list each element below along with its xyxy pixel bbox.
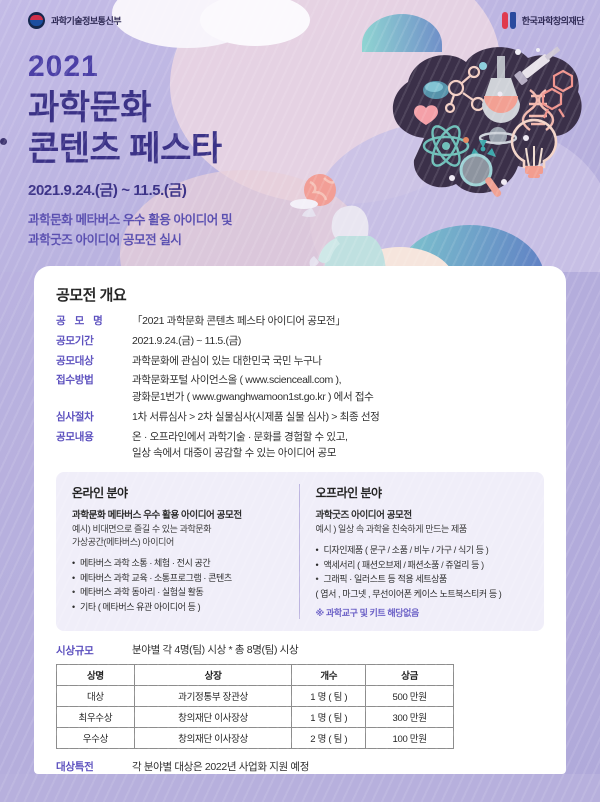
hero-subtitle-line2: 과학굿즈 아이디어 공모전 실시	[28, 230, 232, 250]
info-value: 「2021 과학문화 콘텐츠 페스타 아이디어 공모전」	[132, 314, 345, 330]
hero-subtitle-line1: 과학문화 메타버스 우수 활용 아이디어 및	[28, 210, 232, 230]
column-header-certificate: 상장	[134, 665, 292, 686]
info-value: 과학문화포털 사이언스올 ( www.scienceall.com ), 광화문…	[132, 373, 373, 406]
info-label: 공모기간	[56, 334, 132, 349]
awards-summary: 분야별 각 4명(팀) 시상 * 총 8명(팀) 시상	[132, 643, 298, 659]
table-row: 최우수상 창의재단 이사장상 1 명 ( 팀 ) 300 만원	[57, 707, 454, 728]
table-header-row: 상명 상장 개수 상금	[57, 665, 454, 686]
cell-certificate: 창의재단 이사장상	[134, 728, 292, 749]
info-value-line: 2021.9.24.(금) ~ 11.5.(금)	[132, 334, 241, 350]
awards-header-row: 시상규모 분야별 각 4명(팀) 시상 * 총 8명(팀) 시상	[56, 643, 544, 659]
taegeuk-icon	[28, 12, 45, 29]
column-header-count: 개수	[292, 665, 366, 686]
info-value-line: 「2021 과학문화 콘텐츠 페스타 아이디어 공모전」	[132, 314, 345, 330]
info-value-line: 광화문1번가 ( www.gwanghwamoon1st.go.kr ) 에서 …	[132, 390, 373, 406]
poster-year: 2021	[28, 52, 232, 82]
info-row: 공모기간 2021.9.24.(금) ~ 11.5.(금)	[56, 334, 544, 350]
foundation-label: 한국과학창의재단	[522, 14, 584, 27]
table-row: 대상 과기정통부 장관상 1 명 ( 팀 ) 500 만원	[57, 686, 454, 707]
info-value: 2021.9.24.(금) ~ 11.5.(금)	[132, 334, 241, 350]
info-row: 공모내용 온 · 오프라인에서 과학기술 · 문화를 경험할 수 있고, 일상 …	[56, 430, 544, 463]
info-row: 공모대상 과학문화에 관심이 있는 대한민국 국민 누구나	[56, 354, 544, 370]
info-label: 공 모 명	[56, 314, 132, 329]
online-item-list: 메타버스 과학 소통 · 체험 · 전시 공간 메타버스 과학 교육 · 소통프…	[72, 556, 287, 614]
kofac-bar-blue	[510, 12, 516, 29]
list-item-continuation: ( 엽서 , 마그넷 , 무선이어폰 케이스 노트북스티커 등 )	[316, 587, 531, 602]
awards-label: 시상규모	[56, 644, 132, 659]
list-item: 그래픽 · 일러스트 등 적용 세트상품	[316, 572, 531, 587]
kofac-bar-red	[502, 12, 508, 29]
info-value: 과학문화에 관심이 있는 대한민국 국민 누구나	[132, 354, 322, 370]
cell-award-name: 우수상	[57, 728, 135, 749]
details-card: 공모전 개요 공 모 명 「2021 과학문화 콘텐츠 페스타 아이디어 공모전…	[34, 266, 566, 774]
page-title-line1: 과학문화	[28, 88, 232, 129]
online-example: 예시) 비대면으로 즐길 수 있는 과학문화 가상공간(메타버스) 아이디어	[72, 523, 287, 549]
cell-prize: 100 만원	[366, 728, 454, 749]
cell-count: 1 명 ( 팀 )	[292, 707, 366, 728]
online-example-line: 가상공간(메타버스) 아이디어	[72, 536, 287, 549]
info-label: 공모대상	[56, 354, 132, 369]
info-label: 심사절차	[56, 410, 132, 425]
cell-prize: 300 만원	[366, 707, 454, 728]
online-example-line: 예시) 비대면으로 즐길 수 있는 과학문화	[72, 523, 287, 536]
info-value: 1차 서류심사 > 2차 실물심사(시제품 실물 심사) > 최종 선정	[132, 410, 379, 426]
cell-prize: 500 만원	[366, 686, 454, 707]
column-header-award-name: 상명	[57, 665, 135, 686]
info-row: 심사절차 1차 서류심사 > 2차 실물심사(시제품 실물 심사) > 최종 선…	[56, 410, 544, 426]
ministry-logo: 과학기술정보통신부	[28, 12, 121, 29]
table-row: 우수상 창의재단 이사장상 2 명 ( 팀 ) 100 만원	[57, 728, 454, 749]
cell-certificate: 창의재단 이사장상	[134, 707, 292, 728]
overview-rows: 공 모 명 「2021 과학문화 콘텐츠 페스타 아이디어 공모전」 공모기간 …	[56, 314, 544, 462]
list-item: 액세서리 ( 패션오브제 / 패션소품 / 쥬얼리 등 )	[316, 558, 531, 573]
scientist-holding-globe	[290, 168, 420, 272]
offline-item-list: 디자인제품 ( 문구 / 소품 / 비누 / 가구 / 식기 등 ) 액세서리 …	[316, 543, 531, 601]
list-item: 메타버스 과학 동아리 · 실험실 활동	[72, 585, 287, 600]
prizes-table: 상명 상장 개수 상금 대상 과기정통부 장관상 1 명 ( 팀 ) 500 만…	[56, 664, 454, 749]
cell-certificate: 과기정통부 장관상	[134, 686, 292, 707]
list-item: 기타 ( 메타버스 유관 아이디어 등 )	[72, 600, 287, 615]
cell-count: 1 명 ( 팀 )	[292, 686, 366, 707]
online-subheading: 과학문화 메타버스 우수 활용 아이디어 공모전	[72, 507, 287, 521]
event-daterange: 2021.9.24.(금) ~ 11.5.(금)	[28, 179, 232, 200]
info-value-line: 과학문화에 관심이 있는 대한민국 국민 누구나	[132, 354, 322, 370]
cell-count: 2 명 ( 팀 )	[292, 728, 366, 749]
fields-panel: 온라인 분야 과학문화 메타버스 우수 활용 아이디어 공모전 예시) 비대면으…	[56, 472, 544, 631]
info-row: 공 모 명 「2021 과학문화 콘텐츠 페스타 아이디어 공모전」	[56, 314, 544, 330]
decorative-dot	[0, 138, 7, 145]
kofac-logo: 한국과학창의재단	[502, 12, 584, 29]
field-column-offline: 오프라인 분야 과학굿즈 아이디어 공모전 예시 ) 일상 속 과학을 친숙하게…	[299, 484, 531, 619]
ministry-label: 과학기술정보통신부	[51, 14, 121, 27]
info-value-line: 일상 속에서 대중이 공감할 수 있는 아이디어 공모	[132, 446, 348, 462]
info-value: 온 · 오프라인에서 과학기술 · 문화를 경험할 수 있고, 일상 속에서 대…	[132, 430, 348, 463]
overview-heading: 공모전 개요	[56, 284, 544, 305]
offline-example: 예시 ) 일상 속 과학을 친숙하게 만드는 제품	[316, 523, 531, 536]
info-value-line: 1차 서류심사 > 2차 실물심사(시제품 실물 심사) > 최종 선정	[132, 410, 379, 426]
bottom-strip	[0, 774, 600, 802]
hero-subtitle: 과학문화 메타버스 우수 활용 아이디어 및 과학굿즈 아이디어 공모전 실시	[28, 210, 232, 251]
cell-award-name: 최우수상	[57, 707, 135, 728]
info-value-line: 과학문화포털 사이언스올 ( www.scienceall.com ),	[132, 373, 373, 389]
page-title: 과학문화 콘텐츠 페스타	[28, 88, 232, 171]
page-title-line2: 콘텐츠 페스타	[28, 129, 232, 170]
offline-example-line: 예시 ) 일상 속 과학을 친숙하게 만드는 제품	[316, 523, 531, 536]
offline-heading: 오프라인 분야	[316, 484, 531, 501]
info-row: 접수방법 과학문화포털 사이언스올 ( www.scienceall.com )…	[56, 373, 544, 406]
info-label: 접수방법	[56, 373, 132, 388]
info-label: 공모내용	[56, 430, 132, 445]
poster: 2021 과학문화 콘텐츠 페스타 2021.9.24.(금) ~ 11.5.(…	[0, 0, 600, 802]
hero-text-block: 2021 과학문화 콘텐츠 페스타 2021.9.24.(금) ~ 11.5.(…	[28, 52, 232, 250]
column-header-prize: 상금	[366, 665, 454, 686]
list-item: 메타버스 과학 교육 · 소통프로그램 · 콘텐츠	[72, 571, 287, 586]
online-heading: 온라인 분야	[72, 484, 287, 501]
awards-section: 시상규모 분야별 각 4명(팀) 시상 * 총 8명(팀) 시상 상명 상장 개…	[56, 643, 544, 749]
offline-subheading: 과학굿즈 아이디어 공모전	[316, 507, 531, 521]
kofac-mark-icon	[502, 12, 516, 29]
info-value-line: 온 · 오프라인에서 과학기술 · 문화를 경험할 수 있고,	[132, 430, 348, 446]
cell-award-name: 대상	[57, 686, 135, 707]
list-item: 디자인제품 ( 문구 / 소품 / 비누 / 가구 / 식기 등 )	[316, 543, 531, 558]
offline-note: ※ 과학교구 및 키트 해당없음	[316, 606, 531, 619]
list-item: 메타버스 과학 소통 · 체험 · 전시 공간	[72, 556, 287, 571]
field-column-online: 온라인 분야 과학문화 메타버스 우수 활용 아이디어 공모전 예시) 비대면으…	[72, 484, 299, 619]
hero-section: 2021 과학문화 콘텐츠 페스타 2021.9.24.(금) ~ 11.5.(…	[0, 0, 600, 272]
topbar: 과학기술정보통신부 한국과학창의재단	[0, 0, 600, 40]
